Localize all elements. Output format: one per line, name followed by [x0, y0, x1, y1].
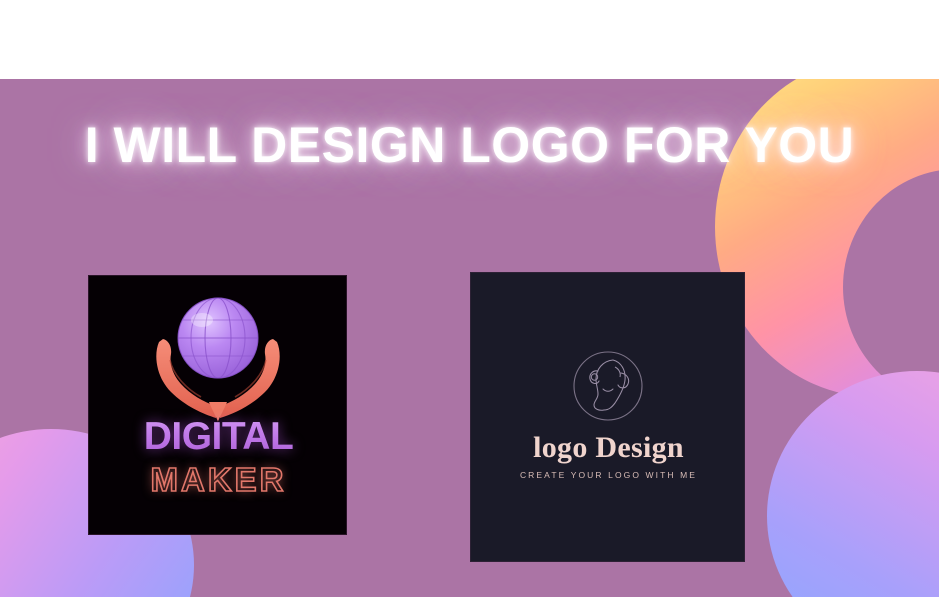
logo-design-title: logo Design: [471, 431, 745, 465]
logo-samples-row: DIGITAL MAKER logo De: [0, 79, 939, 597]
digital-title: DIGITAL: [89, 416, 347, 458]
globe-in-hands-icon: [143, 294, 293, 426]
logo-design-tagline: CREATE YOUR LOGO WITH ME: [471, 469, 745, 481]
banner-canvas: I WILL DESIGN LOGO FOR YOU: [0, 0, 939, 597]
maker-subtitle: MAKER: [89, 462, 347, 498]
banner-stage: I WILL DESIGN LOGO FOR YOU: [0, 79, 939, 597]
woman-face-circle-icon: [571, 349, 645, 423]
digital-maker-logo-card[interactable]: DIGITAL MAKER: [88, 275, 347, 535]
logo-design-card[interactable]: logo Design CREATE YOUR LOGO WITH ME: [470, 272, 745, 562]
top-white-band: [0, 0, 939, 79]
